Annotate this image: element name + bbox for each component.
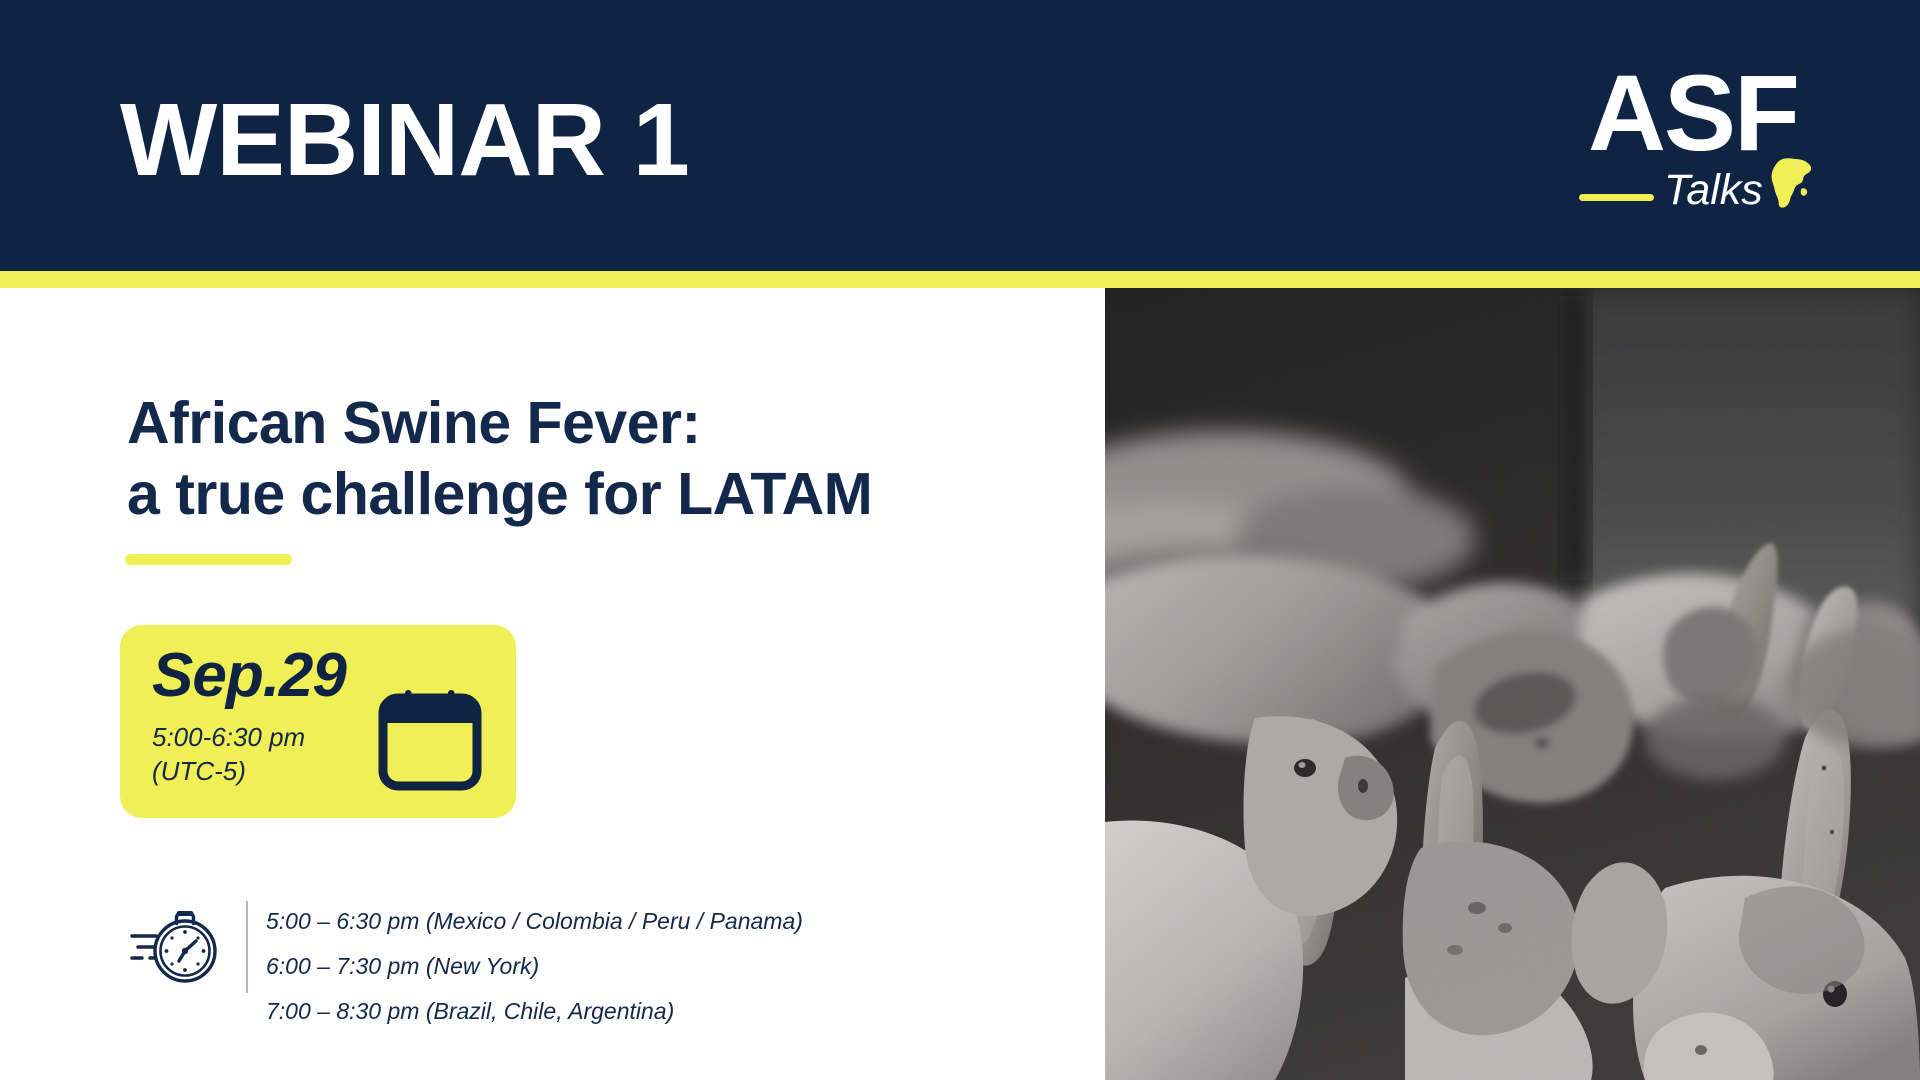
date-value: Sep.29 <box>152 645 346 707</box>
asf-talks-logo: ASF Talks <box>1578 58 1808 223</box>
title-accent-bar <box>125 554 292 565</box>
piglets-photo <box>1105 288 1920 1080</box>
session-title-line-1: African Swine Fever: <box>127 388 987 459</box>
timezone-line: 6:00 – 7:30 pm (New York) <box>266 944 803 989</box>
logo-rule-divider <box>1579 194 1654 201</box>
logo-brand-text: ASF <box>1578 58 1808 168</box>
date-time-range: 5:00-6:30 pm <box>152 721 305 755</box>
africa-continent-icon <box>1771 157 1813 213</box>
logo-subline: Talks <box>1578 169 1808 219</box>
timezone-divider <box>246 901 248 993</box>
timezone-list: 5:00 – 6:30 pm (Mexico / Colombia / Peru… <box>266 899 803 1034</box>
session-title-line-2: a true challenge for LATAM <box>127 459 987 530</box>
page-title: WEBINAR 1 <box>120 88 689 191</box>
timezone-block: 5:00 – 6:30 pm (Mexico / Colombia / Peru… <box>130 893 830 1003</box>
date-card: Sep.29 5:00-6:30 pm (UTC-5) <box>120 625 516 818</box>
calendar-icon <box>378 687 482 791</box>
content-panel: African Swine Fever: a true challenge fo… <box>0 288 1105 1080</box>
stopwatch-icon <box>130 905 226 991</box>
accent-stripe <box>0 271 1920 288</box>
page-header: WEBINAR 1 ASF Talks <box>0 0 1920 271</box>
timezone-line: 7:00 – 8:30 pm (Brazil, Chile, Argentina… <box>266 989 803 1034</box>
session-title: African Swine Fever: a true challenge fo… <box>127 388 987 530</box>
date-time-block: 5:00-6:30 pm (UTC-5) <box>152 721 305 789</box>
date-timezone-offset: (UTC-5) <box>152 755 305 789</box>
logo-sub-text: Talks <box>1664 167 1763 214</box>
timezone-line: 5:00 – 6:30 pm (Mexico / Colombia / Peru… <box>266 899 803 944</box>
